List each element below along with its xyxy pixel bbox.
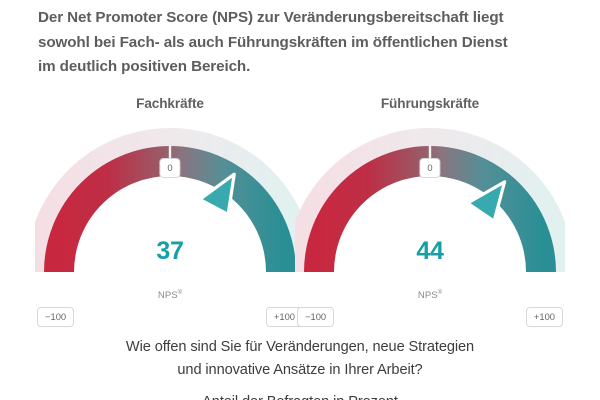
gauge-fachkraefte: Fachkräfte [35,96,305,326]
gauge-unit-label: NPS® [295,290,565,301]
gauge-max-label: +100 [526,307,563,327]
gauge-value: 37 [35,237,305,266]
gauge-fuehrungskraefte: Führungskräfte [295,96,565,326]
headline-line-3: im deutlich positiven Bereich. [38,55,568,80]
gauge-title: Führungskräfte [295,96,565,111]
headline-line-2: sowohl bei Fach- als auch Führungskräfte… [38,31,568,56]
gauge-zero-label: 0 [159,158,180,178]
gauge-dial: 0 −100 +100 [35,122,305,292]
headline-line-1: Der Net Promoter Score (NPS) zur Verände… [38,6,568,31]
gauge-value: 44 [295,237,565,266]
question-line-2: und innovative Ansätze in Ihrer Arbeit? [0,359,600,382]
gauge-zero-label: 0 [419,158,440,178]
question-line-clipped: Anteil der Befragten in Prozent [0,391,600,400]
registered-mark-icon: ® [438,290,442,296]
gauge-title: Fachkräfte [35,96,305,111]
headline: Der Net Promoter Score (NPS) zur Verände… [38,6,568,80]
gauge-dial: 0 −100 +100 [295,122,565,292]
gauge-min-label: −100 [37,307,74,327]
question-line-1: Wie offen sind Sie für Veränderungen, ne… [0,336,600,359]
gauge-unit-text: NPS [418,290,438,301]
gauge-unit-label: NPS® [35,290,305,301]
registered-mark-icon: ® [178,290,182,296]
gauge-group: Fachkräfte [0,96,600,326]
gauge-min-label: −100 [297,307,334,327]
survey-question: Wie offen sind Sie für Veränderungen, ne… [0,336,600,381]
gauge-unit-text: NPS [158,290,178,301]
